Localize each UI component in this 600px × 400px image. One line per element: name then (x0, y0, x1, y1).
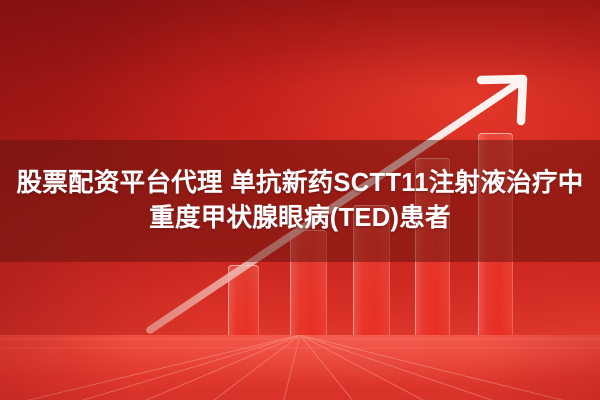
headline: 股票配资平台代理 单抗新药SCTT11注射液治疗中 重度甲状腺眼病(TED)患者 (0, 140, 600, 262)
perspective-floor (0, 335, 600, 400)
floor-sheen (0, 335, 600, 400)
headline-line-2: 重度甲状腺眼病(TED)患者 (149, 204, 451, 233)
headline-line-1: 股票配资平台代理 单抗新药SCTT11注射液治疗中 (16, 169, 583, 198)
promo-banner: 股票配资平台代理 单抗新药SCTT11注射液治疗中 重度甲状腺眼病(TED)患者 (0, 0, 600, 400)
